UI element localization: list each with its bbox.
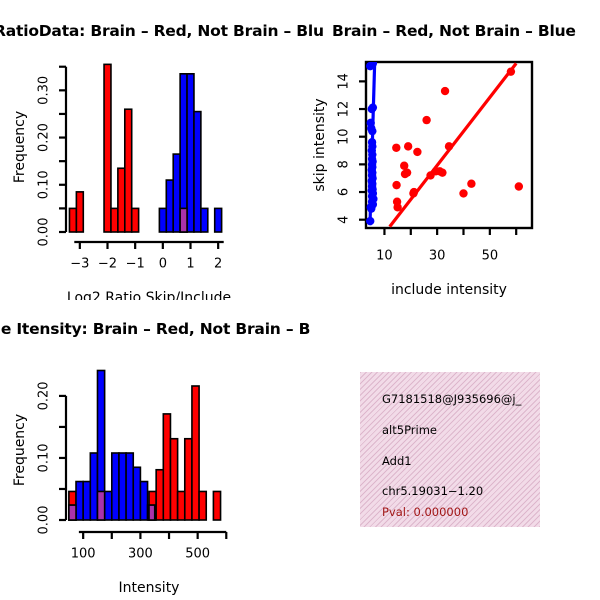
- info-line-gene-symbol: Add1: [382, 454, 412, 468]
- scatter-point-not-brain: [369, 103, 377, 111]
- histogram-bar-brain: [125, 109, 132, 232]
- ratio-ytick-label: 0.10: [37, 170, 52, 199]
- scatter-xtick-label: 50: [482, 249, 499, 264]
- ratio-xtick-label: 1: [186, 257, 194, 272]
- scatter-point-not-brain: [368, 127, 376, 135]
- info-line-pval: Pval: 0.000000: [382, 505, 468, 519]
- panel-gene-intensity-histogram: ne Itensity: Brain – Red, Not Brain – B …: [0, 300, 300, 600]
- gene-yaxis-label: Frequency: [12, 414, 28, 486]
- histogram-bar-not-brain: [112, 453, 119, 520]
- histogram-bar-overlap: [180, 208, 187, 232]
- figure-canvas: RatioData: Brain – Red, Not Brain – Blu …: [0, 0, 600, 600]
- scatter-point-brain: [404, 142, 412, 150]
- ratio-histogram-plot: 0.000.100.200.30−3−2−1012Log2 Ratio Skip…: [0, 0, 300, 300]
- gene-ytick-label: 0.00: [37, 506, 52, 535]
- ratio-xtick-label: −2: [98, 257, 117, 272]
- info-line-locus: chr5.19031−1.20: [382, 484, 483, 498]
- gene-ytick-label: 0.20: [37, 381, 52, 410]
- scatter-yaxis-label: skip intensity: [312, 98, 328, 191]
- histogram-bar-not-brain: [173, 154, 180, 232]
- scatter-xaxis-label: include intensity: [391, 282, 507, 298]
- histogram-bar-brain: [118, 168, 125, 232]
- scatter-title: Brain – Red, Not Brain – Blue: [332, 22, 576, 40]
- histogram-bar-not-brain: [126, 453, 133, 520]
- histogram-bar-not-brain: [187, 74, 194, 232]
- histogram-bar-not-brain: [166, 180, 173, 232]
- scatter-ytick-label: 6: [337, 188, 352, 196]
- histogram-bar-brain: [76, 192, 83, 232]
- ratio-yaxis-label: Frequency: [12, 111, 28, 183]
- gene-info-panel: G7181518@J935696@j_ alt5Prime Add1 chr5.…: [360, 372, 540, 527]
- ratio-ytick-label: 0.20: [37, 123, 52, 152]
- histogram-bar-overlap: [149, 505, 155, 520]
- ratio-ytick-label: 0.00: [37, 218, 52, 247]
- gene-intensity-histogram-title: ne Itensity: Brain – Red, Not Brain – B: [0, 320, 310, 338]
- histogram-bar-not-brain: [90, 453, 97, 520]
- histogram-bar-not-brain: [140, 482, 147, 520]
- histogram-bar-brain: [132, 208, 139, 232]
- histogram-bar-not-brain: [194, 112, 201, 232]
- scatter-point-brain: [393, 203, 401, 211]
- histogram-bar-brain: [170, 439, 177, 520]
- scatter-xtick-label: 10: [376, 249, 393, 264]
- histogram-bar-overlap: [69, 505, 76, 520]
- gene-xtick-label: 300: [128, 547, 153, 562]
- gene-xtick-label: 500: [185, 547, 210, 562]
- histogram-bar-not-brain: [159, 208, 166, 232]
- scatter-ytick-label: 4: [337, 216, 352, 224]
- histogram-bar-brain: [199, 491, 206, 520]
- scatter-ytick-label: 8: [337, 160, 352, 168]
- gene-ytick-label: 0.10: [37, 443, 52, 472]
- histogram-bar-brain: [192, 386, 199, 520]
- scatter-point-not-brain: [367, 204, 375, 212]
- scatter-data-group: [366, 59, 523, 226]
- ratio-xtick-label: 0: [159, 257, 167, 272]
- ratio-histogram-title: RatioData: Brain – Red, Not Brain – Blu: [0, 22, 324, 40]
- histogram-bar-not-brain: [105, 491, 112, 520]
- histogram-bar-brain: [69, 208, 76, 232]
- scatter-point-not-brain: [369, 59, 377, 67]
- histogram-bar-not-brain: [215, 208, 222, 232]
- histogram-bar-brain: [156, 470, 163, 520]
- gene-bars-group: [69, 370, 221, 520]
- ratio-xtick-label: −1: [126, 257, 145, 272]
- scatter-point-brain: [392, 181, 400, 189]
- ratio-xtick-label: 2: [214, 257, 222, 272]
- scatter-point-brain: [413, 148, 421, 156]
- info-line-event-type: alt5Prime: [382, 423, 437, 437]
- scatter-ytick-label: 12: [337, 101, 352, 118]
- histogram-bar-not-brain: [119, 453, 126, 520]
- info-line-probe-id: G7181518@J935696@j_: [382, 392, 521, 406]
- histogram-bar-brain: [104, 64, 111, 232]
- gene-xaxis-label: Intensity: [119, 580, 180, 596]
- scatter-point-brain: [438, 168, 446, 176]
- histogram-bar-brain: [213, 491, 220, 520]
- histogram-bar-brain: [178, 491, 185, 520]
- scatter-point-not-brain: [366, 217, 374, 225]
- histogram-bar-not-brain: [83, 482, 90, 520]
- panel-ratio-histogram: RatioData: Brain – Red, Not Brain – Blu …: [0, 0, 300, 310]
- gene-intensity-histogram-plot: 0.000.100.20100300500IntensityFrequency: [0, 300, 300, 600]
- ratio-xtick-label: −3: [70, 257, 89, 272]
- scatter-point-brain: [392, 144, 400, 152]
- scatter-xtick-label: 30: [429, 249, 446, 264]
- scatter-point-brain: [515, 182, 523, 190]
- scatter-point-brain: [422, 116, 430, 124]
- histogram-bar-overlap: [97, 491, 104, 520]
- scatter-axes-group: 468101214103050: [337, 62, 533, 264]
- histogram-bar-not-brain: [76, 482, 83, 520]
- histogram-bar-brain: [185, 439, 192, 520]
- scatter-point-brain: [507, 67, 515, 75]
- scatter-point-brain: [403, 168, 411, 176]
- ratio-ytick-label: 0.30: [37, 76, 52, 105]
- histogram-bar-not-brain: [133, 467, 140, 520]
- intensity-scatter-plot: 468101214103050include intensityskip int…: [300, 0, 600, 300]
- scatter-point-brain: [441, 87, 449, 95]
- scatter-point-brain: [445, 142, 453, 150]
- scatter-ytick-label: 14: [337, 73, 352, 90]
- scatter-ytick-label: 10: [337, 128, 352, 145]
- scatter-point-brain: [467, 180, 475, 188]
- histogram-bar-not-brain: [201, 208, 208, 232]
- panel-intensity-scatter: Brain – Red, Not Brain – Blue 4681012141…: [300, 0, 600, 310]
- ratio-bars-group: [69, 64, 221, 232]
- histogram-bar-brain: [163, 414, 170, 520]
- gene-xtick-label: 100: [71, 547, 96, 562]
- scatter-point-brain: [410, 188, 418, 196]
- histogram-bar-brain: [111, 208, 118, 232]
- scatter-point-brain: [459, 189, 467, 197]
- ratio-xaxis-label: Log2 Ratio Skip/Include: [67, 290, 231, 300]
